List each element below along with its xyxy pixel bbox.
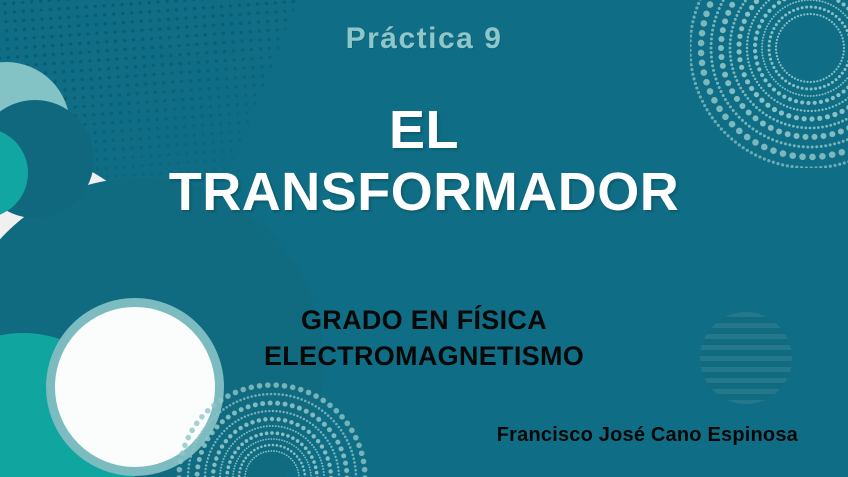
concentric-dots-bottom-left-icon xyxy=(172,378,372,477)
slide-eyebrow-label: Práctica 9 xyxy=(0,22,848,56)
slide-main-title: EL TRANSFORMADOR xyxy=(0,100,848,223)
subtitle-line-1: GRADO EN FÍSICA xyxy=(0,303,848,339)
presentation-title-slide: Práctica 9 EL TRANSFORMADOR GRADO EN FÍS… xyxy=(0,0,848,477)
slide-author-name: Francisco José Cano Espinosa xyxy=(497,424,798,447)
slide-subtitle: GRADO EN FÍSICA ELECTROMAGNETISMO xyxy=(0,303,848,375)
subtitle-line-2: ELECTROMAGNETISMO xyxy=(0,339,848,375)
title-line-1: EL xyxy=(0,100,848,162)
title-line-2: TRANSFORMADOR xyxy=(0,162,848,224)
